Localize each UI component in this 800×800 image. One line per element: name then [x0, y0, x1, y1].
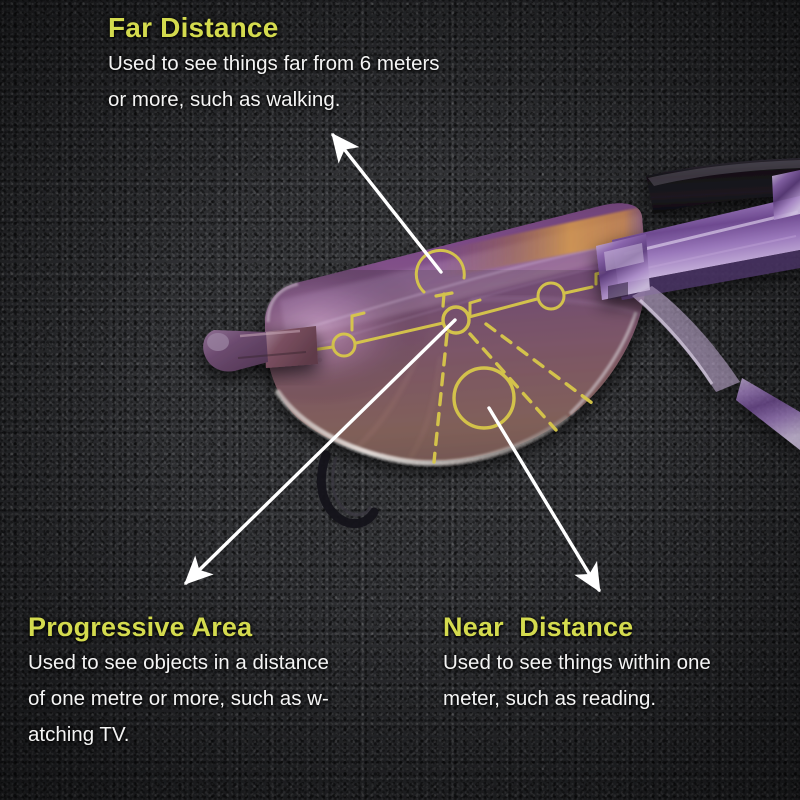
progressive-area-heading: Progressive Area [28, 612, 329, 643]
annotation-near-distance: Near Distance Used to see things within … [443, 612, 711, 715]
near-distance-heading: Near Distance [443, 612, 711, 643]
arrow-far-distance [333, 135, 441, 272]
far-distance-line-1: Used to see things far from 6 meters [108, 47, 440, 80]
far-distance-line-2: or more, such as walking. [108, 83, 440, 116]
nose-bridge-wire [321, 455, 374, 524]
temple-tip-fragment [772, 170, 800, 220]
nose-pad-bracket [203, 326, 318, 372]
infographic-canvas: Far Distance Used to see things far from… [0, 0, 800, 800]
near-distance-line-1: Used to see things within one [443, 646, 711, 679]
arrow-near-distance [489, 408, 599, 590]
annotation-far-distance: Far Distance Used to see things far from… [108, 12, 440, 117]
far-distance-heading: Far Distance [108, 12, 440, 44]
progressive-area-line-2: of one metre or more, such as w- [28, 682, 329, 715]
progressive-area-line-3: atching TV. [28, 718, 329, 751]
progressive-area-line-1: Used to see objects in a distance [28, 646, 329, 679]
near-distance-line-2: meter, such as reading. [443, 682, 711, 715]
annotation-progressive-area: Progressive Area Used to see objects in … [28, 612, 329, 752]
